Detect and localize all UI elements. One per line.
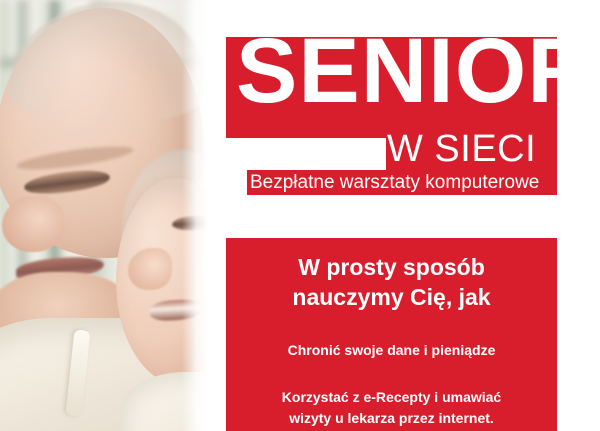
promo-heading-line-1: W prosty sposób [238,252,545,282]
poster-subtitle: W SIECI [387,130,536,168]
promo-panel: W prosty sposób nauczymy Cię, jak Chroni… [226,238,557,431]
promo-item-2-line-1: Korzystać z e-Recepty i umawiać [234,387,549,408]
poster-root: SENIOR W SIECI Bezpłatne warsztaty kompu… [0,0,600,431]
poster-tagline: Bezpłatne warsztaty komputerowe [250,172,539,193]
promo-heading-line-2: nauczymy Cię, jak [238,282,545,312]
promo-item-2-line-2: wizyty u lekarza przez internet. [234,408,549,429]
tagline-band: Bezpłatne warsztaty komputerowe [247,170,557,195]
promo-item-1-line-1: Chronić swoje dane i pieniądze [234,340,549,361]
